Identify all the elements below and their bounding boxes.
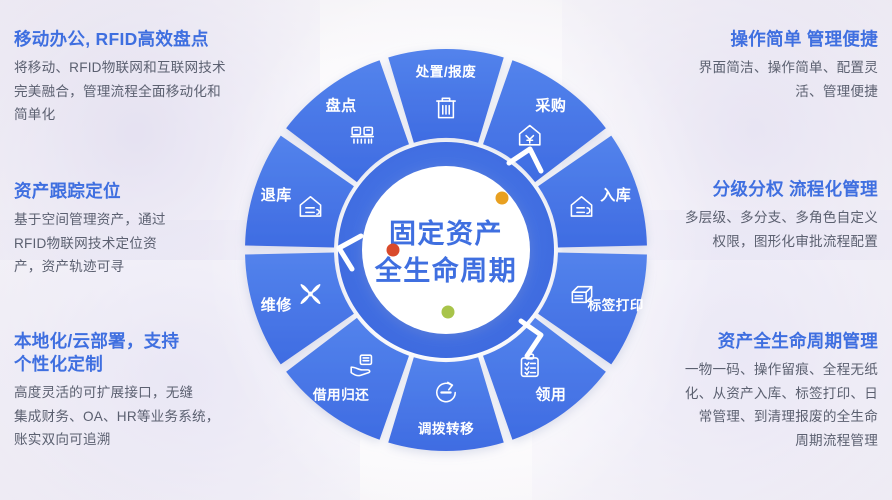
center-ring	[338, 142, 554, 358]
text-block-role-permission: 分级分权 流程化管理 多层级、多分支、多角色自定义 权限，图形化审批流程配置	[638, 178, 878, 253]
wheel-segment-label-disposal: 处置/报废	[415, 64, 477, 80]
wheel-segment-transfer[interactable]	[388, 357, 504, 451]
wheel-segment-disposal[interactable]	[388, 49, 504, 143]
wheel-segment-label-transfer: 调拨转移	[418, 421, 474, 437]
text-block-title: 资产全生命周期管理	[638, 330, 878, 353]
dot-red	[387, 244, 400, 257]
wheel-segment-label-requisition: 领用	[534, 385, 566, 403]
wheel-segment-label-borrow-return: 借用归还	[312, 386, 369, 402]
center-line-2: 全生命周期	[374, 255, 518, 286]
text-block-easy-operation: 操作简单 管理便捷 界面简洁、操作简单、配置灵 活、管理便捷	[638, 28, 878, 103]
text-block-title: 分级分权 流程化管理	[638, 178, 878, 201]
wheel-segment-label-return-stock: 退库	[261, 186, 292, 204]
dot-green	[442, 306, 455, 319]
wheel-segment-label-repair: 维修	[261, 296, 293, 314]
text-block-body: 多层级、多分支、多角色自定义 权限，图形化审批流程配置	[638, 206, 878, 253]
text-block-body: 一物一码、操作留痕、全程无纸 化、从资产入库、标签打印、日 常管理、到清理报废的…	[638, 358, 878, 452]
wheel-segment-label-label-print: 标签打印	[587, 297, 644, 313]
lifecycle-wheel: 采购入库标签打印领用调拨转移借用归还维修退库盘点处置/报废 固定资产 全生命周期	[221, 8, 671, 492]
dot-orange	[496, 192, 509, 205]
text-block-body: 界面简洁、操作简单、配置灵 活、管理便捷	[638, 56, 878, 103]
wheel-segment-label-inbound: 入库	[600, 186, 631, 204]
wheel-segment-label-purchase: 采购	[534, 97, 566, 115]
wheel-segment-label-stocktake: 盘点	[326, 97, 357, 115]
infographic-canvas: 移动办公, RFID高效盘点 将移动、RFID物联网和互联网技术 完美融合，管理…	[0, 0, 892, 500]
text-block-lifecycle: 资产全生命周期管理 一物一码、操作留痕、全程无纸 化、从资产入库、标签打印、日 …	[638, 330, 878, 452]
center-line-1: 固定资产	[389, 218, 503, 249]
text-block-title: 操作简单 管理便捷	[638, 28, 878, 51]
